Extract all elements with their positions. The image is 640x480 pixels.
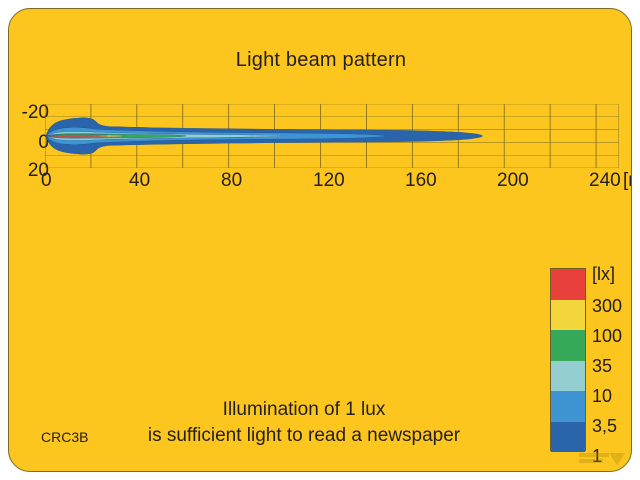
legend-label-10: 10 — [592, 386, 612, 407]
watermark-logo-icon — [579, 451, 625, 469]
legend-swatch-35 — [551, 330, 585, 361]
x-tick-label-40: 40 — [129, 170, 150, 192]
legend-label-100: 100 — [592, 326, 622, 347]
x-axis-unit-label: [m] — [623, 170, 632, 192]
legend-swatch-300 — [551, 269, 585, 300]
beam-plot-svg — [45, 104, 619, 168]
legend-label-3-5: 3,5 — [592, 416, 617, 437]
caption-line-2: is sufficient light to read a newspaper — [69, 423, 539, 449]
lux-legend-swatches — [550, 268, 586, 451]
x-tick-label-80: 80 — [221, 170, 242, 192]
legend-label-300: 300 — [592, 296, 622, 317]
x-tick-label-240: 240 — [589, 170, 621, 192]
isolux-contours — [46, 118, 482, 154]
x-tick-label-160: 160 — [405, 170, 437, 192]
legend-unit-label: [lx] — [592, 264, 615, 285]
page-title: Light beam pattern — [9, 49, 632, 72]
x-tick-label-120: 120 — [313, 170, 345, 192]
y-tick-label-0: 0 — [8, 132, 49, 154]
legend-label-35: 35 — [592, 356, 612, 377]
light-beam-pattern-card: Light beam pattern -20 0 20 — [8, 8, 632, 472]
caption-line-1: Illumination of 1 lux — [69, 397, 539, 423]
legend-swatch-10 — [551, 361, 585, 392]
legend-swatch-100 — [551, 300, 585, 331]
beam-plot-area — [45, 104, 619, 168]
isolux-band-300lx — [46, 135, 107, 137]
y-tick-label--20: -20 — [8, 102, 49, 124]
x-tick-label-0: 0 — [41, 170, 52, 192]
product-code-label: CRC3B — [41, 429, 88, 445]
x-tick-label-200: 200 — [497, 170, 529, 192]
legend-swatch-1 — [551, 422, 585, 453]
legend-swatch-3-5 — [551, 391, 585, 422]
beam-chart: -20 0 20 — [45, 104, 629, 199]
caption-block: Illumination of 1 lux is sufficient ligh… — [69, 397, 539, 449]
